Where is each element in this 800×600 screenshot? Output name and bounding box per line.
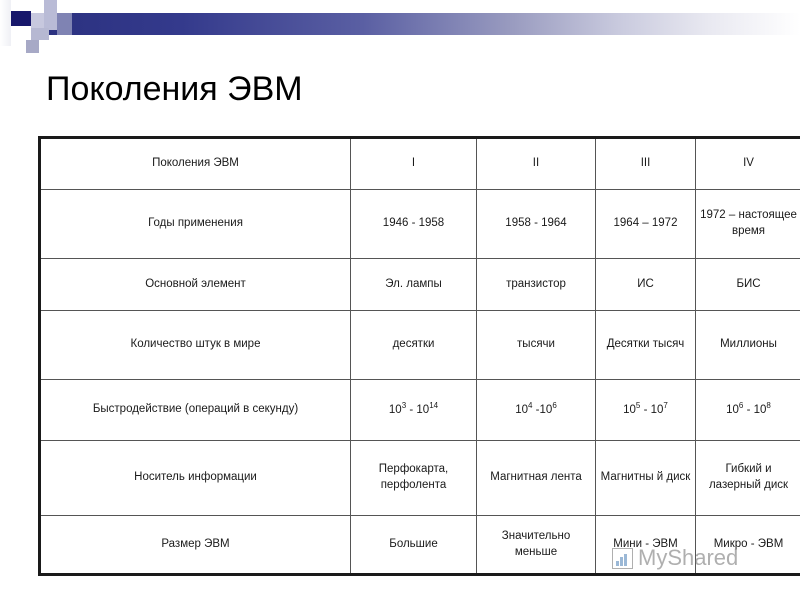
watermark: MyShared bbox=[612, 545, 738, 571]
cell-speed-g3: 105 - 107 bbox=[596, 380, 696, 441]
gradient-band-icon bbox=[46, 13, 800, 35]
table-header-cell-g2: II bbox=[477, 138, 596, 190]
cell-years-g2: 1958 - 1964 bbox=[477, 190, 596, 259]
cell-element-g4: БИС bbox=[696, 259, 800, 311]
cell-element-g2: транзистор bbox=[477, 259, 596, 311]
cell-media-g2: Магнитная лента bbox=[477, 441, 596, 516]
row-label-years: Годы применения bbox=[40, 190, 351, 259]
cell-size-g2: Значительно меньше bbox=[477, 516, 596, 575]
decorative-square-lavender-small bbox=[26, 40, 39, 53]
cell-speed-g4: 106 - 108 bbox=[696, 380, 800, 441]
cell-speed-g2: 104 -106 bbox=[477, 380, 596, 441]
row-label-count: Количество штук в мире bbox=[40, 311, 351, 380]
table-header-row: Поколения ЭВМ I II III IV bbox=[40, 138, 800, 190]
row-label-speed: Быстродействие (операций в секунду) bbox=[40, 380, 351, 441]
speed-base: 10 bbox=[416, 404, 429, 416]
table-row: Годы применения 1946 - 1958 1958 - 1964 … bbox=[40, 190, 800, 259]
header-decoration bbox=[0, 0, 800, 62]
speed-base: 10 bbox=[726, 404, 739, 416]
table-row: Основной элемент Эл. лампы транзистор ИС… bbox=[40, 259, 800, 311]
speed-base: 10 bbox=[389, 404, 402, 416]
cell-count-g3: Десятки тысяч bbox=[596, 311, 696, 380]
row-label-media: Носитель информации bbox=[40, 441, 351, 516]
watermark-label: MyShared bbox=[638, 545, 738, 571]
table-header-cell-g4: IV bbox=[696, 138, 800, 190]
page-title: Поколения ЭВМ bbox=[46, 70, 303, 109]
speed-separator: - bbox=[406, 404, 416, 416]
decorative-square-navy bbox=[11, 11, 31, 26]
speed-base: 10 bbox=[623, 404, 636, 416]
decorative-square-lavender-dim bbox=[57, 13, 72, 35]
cell-years-g3: 1964 – 1972 bbox=[596, 190, 696, 259]
decorative-square-lavender-tall bbox=[44, 0, 57, 30]
decorative-square-lavender-mid bbox=[31, 13, 44, 28]
cell-count-g4: Миллионы bbox=[696, 311, 800, 380]
cell-size-g1: Большие bbox=[351, 516, 477, 575]
table-header-cell-g1: I bbox=[351, 138, 477, 190]
cell-media-g4: Гибкий и лазерный диск bbox=[696, 441, 800, 516]
speed-base: 10 bbox=[515, 404, 528, 416]
speed-exponent: 14 bbox=[429, 401, 438, 410]
speed-separator: - bbox=[532, 404, 539, 416]
speed-exponent: 7 bbox=[663, 401, 667, 410]
decorative-square-fade bbox=[0, 0, 11, 46]
speed-separator: - bbox=[743, 404, 753, 416]
speed-base: 10 bbox=[651, 404, 664, 416]
bar-chart-icon bbox=[612, 548, 633, 569]
speed-exponent: 8 bbox=[766, 401, 770, 410]
cell-count-g2: тысячи bbox=[477, 311, 596, 380]
generations-table: Поколения ЭВМ I II III IV Годы применени… bbox=[38, 136, 800, 576]
decorative-square-lavender-low bbox=[31, 28, 49, 40]
cell-media-g3: Магнитны й диск bbox=[596, 441, 696, 516]
row-label-size: Размер ЭВМ bbox=[40, 516, 351, 575]
cell-years-g4: 1972 – настоящее время bbox=[696, 190, 800, 259]
table-header-cell-label: Поколения ЭВМ bbox=[40, 138, 351, 190]
row-label-element: Основной элемент bbox=[40, 259, 351, 311]
cell-element-g3: ИС bbox=[596, 259, 696, 311]
cell-speed-g1: 103 - 1014 bbox=[351, 380, 477, 441]
speed-base: 10 bbox=[540, 404, 553, 416]
cell-media-g1: Перфокарта, перфолента bbox=[351, 441, 477, 516]
cell-count-g1: десятки bbox=[351, 311, 477, 380]
speed-separator: - bbox=[640, 404, 650, 416]
speed-exponent: 6 bbox=[552, 401, 556, 410]
table-row: Количество штук в мире десятки тысячи Де… bbox=[40, 311, 800, 380]
table-row: Быстродействие (операций в секунду) 103 … bbox=[40, 380, 800, 441]
table-header-cell-g3: III bbox=[596, 138, 696, 190]
cell-years-g1: 1946 - 1958 bbox=[351, 190, 477, 259]
cell-element-g1: Эл. лампы bbox=[351, 259, 477, 311]
table-row: Носитель информации Перфокарта, перфолен… bbox=[40, 441, 800, 516]
speed-base: 10 bbox=[754, 404, 767, 416]
